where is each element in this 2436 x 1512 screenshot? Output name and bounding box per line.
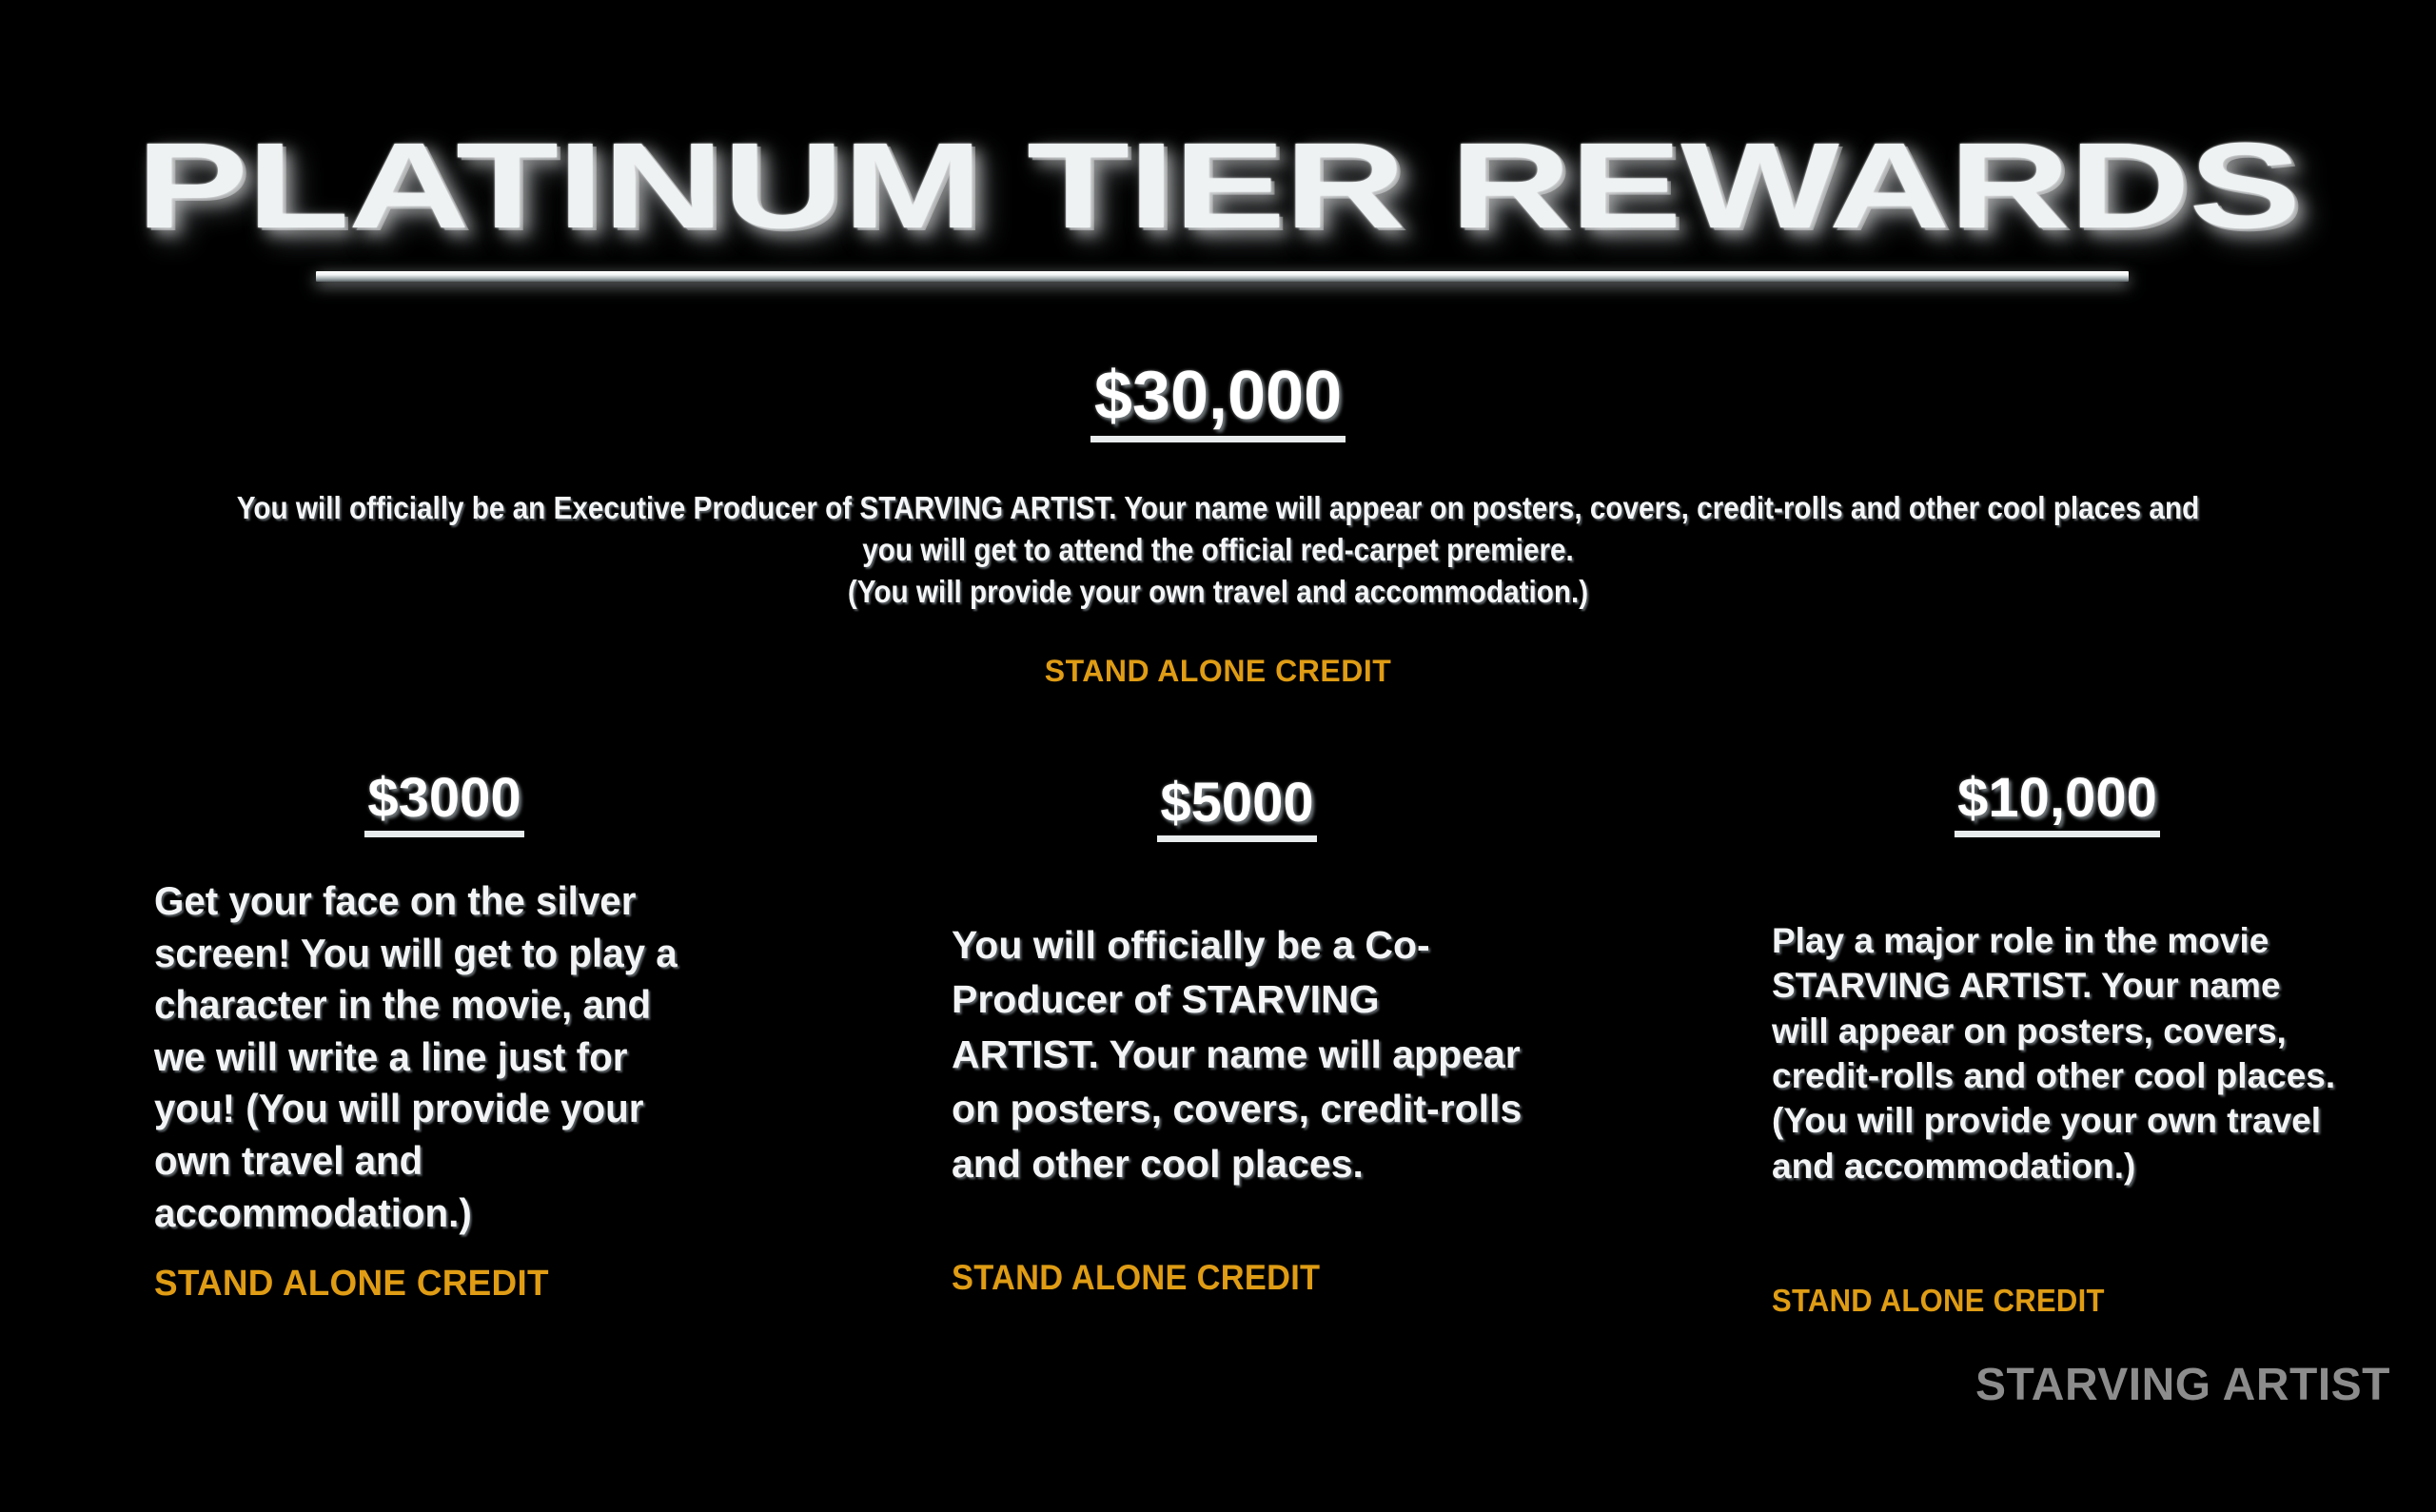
top-tier-amount: $30,000 bbox=[1090, 362, 1346, 442]
slide-canvas: PLATINUM TIER REWARDS $30,000 You will o… bbox=[0, 0, 2436, 1512]
tier-2-amount-text: $5000 bbox=[1157, 776, 1316, 842]
title-underline-rule bbox=[316, 271, 2129, 282]
tier-3-description: Play a major role in the movie STARVING … bbox=[1772, 918, 2343, 1188]
tier-1-credit-badge: STAND ALONE CREDIT bbox=[154, 1264, 549, 1305]
tier-2-description: You will officially be a Co-Producer of … bbox=[952, 918, 1522, 1191]
top-tier-description: You will officially be an Executive Prod… bbox=[233, 487, 2203, 613]
top-tier-amount-container: $30,000 bbox=[0, 362, 2436, 442]
tier-2-amount: $5000 bbox=[952, 776, 1522, 842]
tier-1-amount-text: $3000 bbox=[364, 771, 523, 837]
page-title-container: PLATINUM TIER REWARDS bbox=[0, 126, 2436, 253]
tier-2-credit-badge: STAND ALONE CREDIT bbox=[952, 1258, 1320, 1298]
top-tier-credit-badge: STAND ALONE CREDIT bbox=[0, 655, 2436, 688]
tier-3-amount: $10,000 bbox=[1772, 771, 2343, 837]
tier-3-amount-text: $10,000 bbox=[1955, 771, 2160, 837]
brand-watermark: STARVING ARTIST bbox=[1975, 1363, 2390, 1408]
tier-1-amount: $3000 bbox=[154, 771, 735, 837]
tier-1-description: Get your face on the silver screen! You … bbox=[154, 875, 712, 1239]
tier-3-credit-badge: STAND ALONE CREDIT bbox=[1772, 1283, 2105, 1319]
page-title: PLATINUM TIER REWARDS bbox=[136, 126, 2300, 253]
